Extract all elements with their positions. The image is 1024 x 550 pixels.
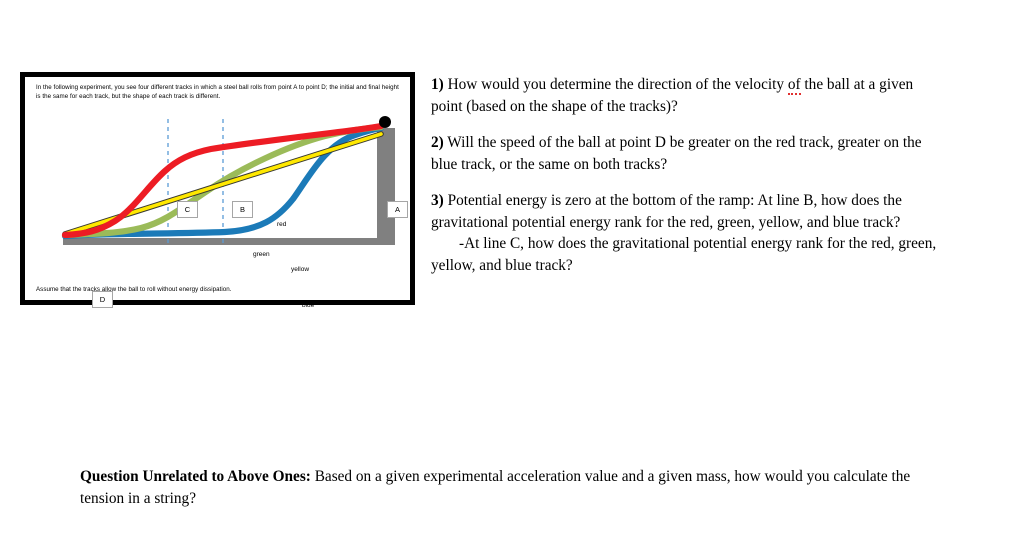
experiment-figure-panel: In the following experiment, you see fou… [20,72,415,305]
question-2-number: 2) [431,134,444,151]
track-label-green: green [253,251,270,258]
track-label-red: red [277,221,286,228]
question-item-2: 2) Will the speed of the ball at point D… [431,132,941,175]
figure-intro-text: In the following experiment, you see fou… [36,83,404,101]
marker-label-c: C [177,201,198,218]
questions-list: 1) How would you determine the direction… [431,74,941,276]
question-1-text-before: How would you determine the direction of… [444,76,788,93]
tracks-diagram-svg [25,115,410,295]
question-3-text: Potential energy is zero at the bottom o… [431,192,902,231]
question-1-number: 1) [431,76,444,93]
marker-label-a: A [387,201,408,218]
tracks-diagram [25,115,410,295]
track-label-yellow: yellow [291,266,309,273]
question-3-subline: -At line C, how does the gravitational p… [431,233,941,276]
marker-label-b: B [232,201,253,218]
steel-ball [379,116,391,128]
unrelated-question-lead: Question Unrelated to Above Ones: [80,468,311,485]
question-2-text: Will the speed of the ball at point D be… [431,134,922,173]
figure-caption-text: Assume that the tracks allow the ball to… [36,285,404,294]
ramp-support-column [377,128,395,240]
track-label-blue: blue [302,302,314,309]
question-item-3: 3) Potential energy is zero at the botto… [431,190,941,276]
question-item-1: 1) How would you determine the direction… [431,74,941,117]
ground-baseline [63,238,395,245]
question-1-misspelled-word: of [788,76,801,95]
unrelated-question: Question Unrelated to Above Ones: Based … [80,466,940,510]
question-3-number: 3) [431,192,444,209]
